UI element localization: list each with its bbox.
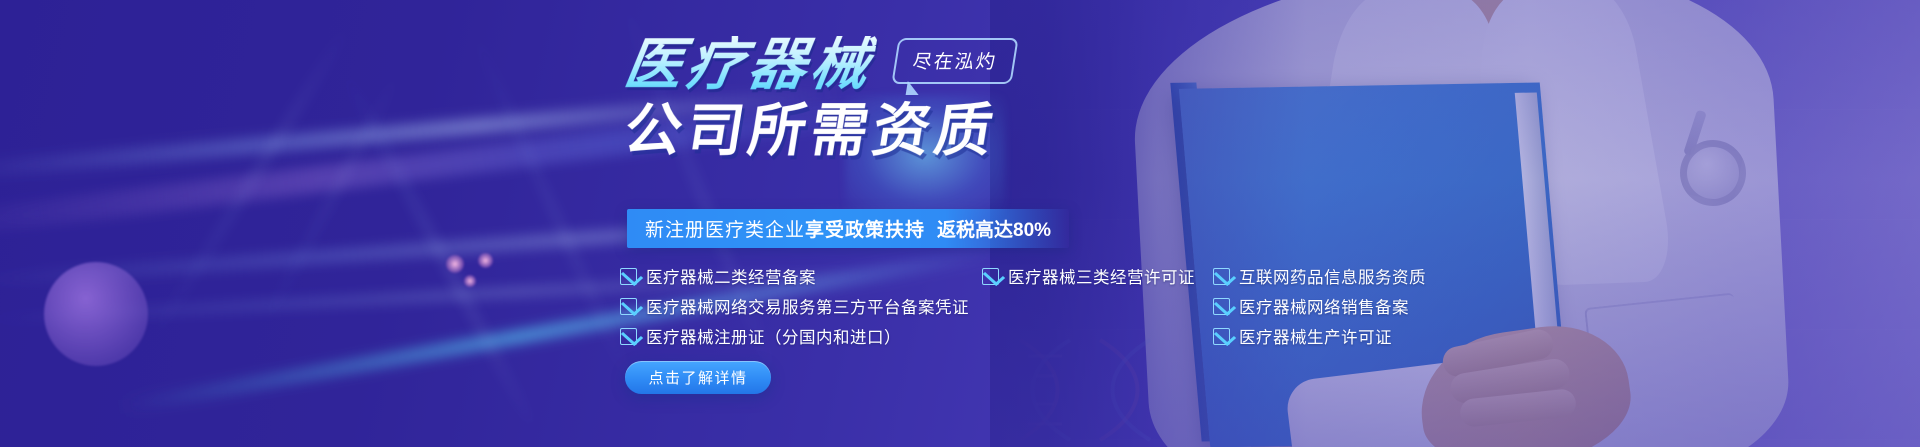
- qualification-column-middle: 医疗器械三类经营许可证: [982, 261, 1195, 351]
- bubble-tail-icon: [906, 81, 921, 95]
- check-icon: [1213, 328, 1230, 345]
- check-icon: [982, 268, 999, 285]
- banner-content: 医疗器械 尽在泓灼 公司所需资质 新注册医疗类企业 享受政策扶持 返税高达80%…: [0, 0, 1920, 447]
- headline-block: 医疗器械 尽在泓灼 公司所需资质: [625, 36, 1015, 160]
- policy-strip: 新注册医疗类企业 享受政策扶持 返税高达80%: [627, 209, 1069, 248]
- check-icon: [1213, 268, 1230, 285]
- list-item[interactable]: 互联网药品信息服务资质: [1213, 261, 1533, 291]
- list-item-label: 医疗器械网络交易服务第三方平台备案凭证: [646, 294, 969, 318]
- qualification-column-right: 互联网药品信息服务资质 医疗器械网络销售备案 医疗器械生产许可证: [1213, 261, 1533, 351]
- list-item[interactable]: 医疗器械注册证（分国内和进口）: [620, 321, 982, 351]
- learn-more-button[interactable]: 点击了解详情: [625, 361, 771, 394]
- headline-line-2: 公司所需资质: [620, 102, 1019, 160]
- strip-bold-text: 享受政策扶持: [805, 215, 925, 242]
- list-item-label: 医疗器械生产许可证: [1239, 324, 1392, 348]
- check-icon: [620, 298, 637, 315]
- check-icon: [620, 268, 637, 285]
- tagline-bubble: 尽在泓灼: [891, 38, 1018, 84]
- list-item-label: 医疗器械网络销售备案: [1239, 294, 1409, 318]
- list-item[interactable]: 医疗器械三类经营许可证: [982, 261, 1195, 291]
- list-item-label: 医疗器械注册证（分国内和进口）: [646, 324, 901, 348]
- headline-row: 医疗器械 尽在泓灼: [625, 36, 1015, 94]
- list-item[interactable]: 医疗器械网络交易服务第三方平台备案凭证: [620, 291, 982, 321]
- check-icon: [1213, 298, 1230, 315]
- list-item-label: 医疗器械三类经营许可证: [1008, 264, 1195, 288]
- strip-lead-text: 新注册医疗类企业: [645, 215, 805, 242]
- check-icon: [620, 328, 637, 345]
- headline-line-1: 医疗器械: [620, 36, 877, 94]
- list-item-label: 医疗器械二类经营备案: [646, 264, 816, 288]
- qualification-column-left: 医疗器械二类经营备案 医疗器械网络交易服务第三方平台备案凭证 医疗器械注册证（分…: [620, 261, 982, 351]
- tagline-text: 尽在泓灼: [911, 52, 998, 73]
- list-item[interactable]: 医疗器械网络销售备案: [1213, 291, 1533, 321]
- list-item[interactable]: 医疗器械二类经营备案: [620, 261, 982, 291]
- list-item-label: 互联网药品信息服务资质: [1239, 264, 1426, 288]
- strip-highlight-text: 返税高达80%: [937, 215, 1051, 242]
- qualification-lists: 医疗器械二类经营备案 医疗器械网络交易服务第三方平台备案凭证 医疗器械注册证（分…: [620, 261, 1533, 351]
- list-item[interactable]: 医疗器械生产许可证: [1213, 321, 1533, 351]
- medical-device-banner: 医疗器械 尽在泓灼 公司所需资质 新注册医疗类企业 享受政策扶持 返税高达80%…: [0, 0, 1920, 447]
